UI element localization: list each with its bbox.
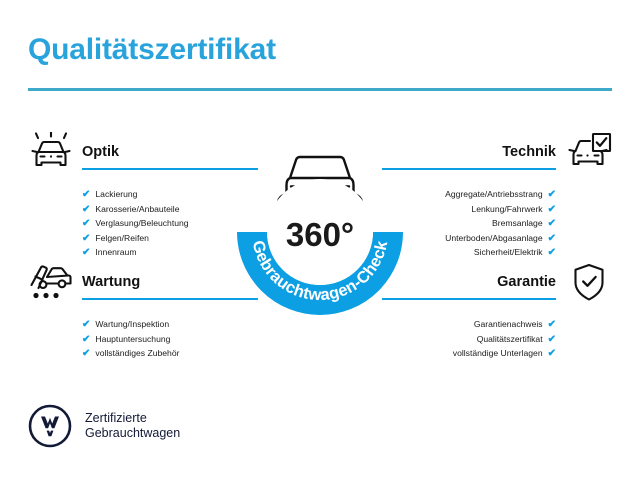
list-item-label: Lenkung/Fahrwerk [471, 202, 542, 217]
section-optik: Optik ✔Lackierung ✔Karosserie/Anbauteile… [28, 132, 258, 260]
car-checkbox-icon [566, 132, 612, 176]
list-item: Bremsanlage✔ [382, 216, 612, 231]
list-item: ✔Lackierung [28, 187, 258, 202]
section-garantie-list: Garantienachweis✔ Qualitätszertifikat✔ v… [382, 317, 612, 361]
section-wartung: Wartung ✔Wartung/Inspektion ✔Hauptunters… [28, 262, 258, 361]
list-item: Sicherheit/Elektrik✔ [382, 245, 612, 260]
list-item: ✔Hauptuntersuchung [28, 332, 258, 347]
check-icon: ✔ [82, 219, 90, 229]
list-item: ✔Innenraum [28, 245, 258, 260]
section-optik-title: Optik [82, 144, 119, 160]
check-icon: ✔ [82, 349, 90, 359]
list-item-label: Karosserie/Anbauteile [95, 202, 179, 217]
footer-text: Zertifizierte Gebrauchtwagen [85, 411, 180, 442]
list-item: ✔vollständiges Zubehör [28, 346, 258, 361]
section-technik: Technik Aggregate/Antriebsstrang✔ Lenkun… [382, 132, 612, 260]
title-divider [28, 88, 612, 91]
section-garantie-title: Garantie [497, 274, 556, 290]
list-item-label: Aggregate/Antriebsstrang [445, 187, 542, 202]
qualitaetszertifikat-page: Qualitätszertifikat Optik [0, 0, 640, 480]
check-icon: ✔ [548, 219, 556, 229]
section-garantie-header: Garantie [382, 262, 612, 308]
list-item-label: vollständiges Zubehör [95, 346, 179, 361]
list-item: vollständige Unterlagen✔ [382, 346, 612, 361]
list-item: Unterboden/Abgasanlage✔ [382, 231, 612, 246]
check-icon: ✔ [548, 349, 556, 359]
page-title: Qualitätszertifikat [28, 33, 276, 67]
list-item: ✔Karosserie/Anbauteile [28, 202, 258, 217]
check-icon: ✔ [548, 320, 556, 330]
section-garantie: Garantie Garantienachweis✔ Qualitätszert… [382, 262, 612, 361]
list-item: Qualitätszertifikat✔ [382, 332, 612, 347]
check-icon: ✔ [82, 335, 90, 345]
section-technik-list: Aggregate/Antriebsstrang✔ Lenkung/Fahrwe… [382, 187, 612, 260]
check-icon: ✔ [548, 190, 556, 200]
check-icon: ✔ [82, 234, 90, 244]
list-item-label: Wartung/Inspektion [95, 317, 169, 332]
list-item-label: Qualitätszertifikat [477, 332, 543, 347]
list-item-label: Verglasung/Beleuchtung [95, 216, 188, 231]
badge-360-gebrauchtwagen-check: 360° Gebrauchtwagen-Check [228, 124, 412, 320]
list-item-label: vollständige Unterlagen [453, 346, 543, 361]
list-item-label: Unterboden/Abgasanlage [445, 231, 542, 246]
check-icon: ✔ [548, 335, 556, 345]
section-wartung-list: ✔Wartung/Inspektion ✔Hauptuntersuchung ✔… [28, 317, 258, 361]
list-item-label: Bremsanlage [492, 216, 543, 231]
list-item: Garantienachweis✔ [382, 317, 612, 332]
footer-lockup: Zertifizierte Gebrauchtwagen [28, 404, 180, 448]
list-item-label: Lackierung [95, 187, 137, 202]
car-lift-icon [28, 262, 74, 306]
list-item-label: Innenraum [95, 245, 136, 260]
check-icon: ✔ [548, 234, 556, 244]
car-shine-icon [28, 132, 74, 176]
shield-check-icon [566, 262, 612, 306]
section-technik-header: Technik [382, 132, 612, 178]
section-wartung-header: Wartung [28, 262, 258, 308]
badge-center-label: 360° [286, 216, 354, 253]
list-item-label: Felgen/Reifen [95, 231, 149, 246]
vw-logo [28, 404, 72, 448]
section-technik-title: Technik [502, 144, 556, 160]
section-optik-header: Optik [28, 132, 258, 178]
list-item: Aggregate/Antriebsstrang✔ [382, 187, 612, 202]
check-icon: ✔ [548, 248, 556, 258]
list-item: ✔Verglasung/Beleuchtung [28, 216, 258, 231]
check-icon: ✔ [82, 320, 90, 330]
section-optik-list: ✔Lackierung ✔Karosserie/Anbauteile ✔Verg… [28, 187, 258, 260]
list-item: ✔Wartung/Inspektion [28, 317, 258, 332]
list-item-label: Hauptuntersuchung [95, 332, 170, 347]
check-icon: ✔ [82, 248, 90, 258]
list-item: ✔Felgen/Reifen [28, 231, 258, 246]
list-item-label: Garantienachweis [474, 317, 543, 332]
check-icon: ✔ [548, 205, 556, 215]
list-item: Lenkung/Fahrwerk✔ [382, 202, 612, 217]
list-item-label: Sicherheit/Elektrik [474, 245, 543, 260]
check-icon: ✔ [82, 205, 90, 215]
check-icon: ✔ [82, 190, 90, 200]
section-wartung-title: Wartung [82, 274, 140, 290]
